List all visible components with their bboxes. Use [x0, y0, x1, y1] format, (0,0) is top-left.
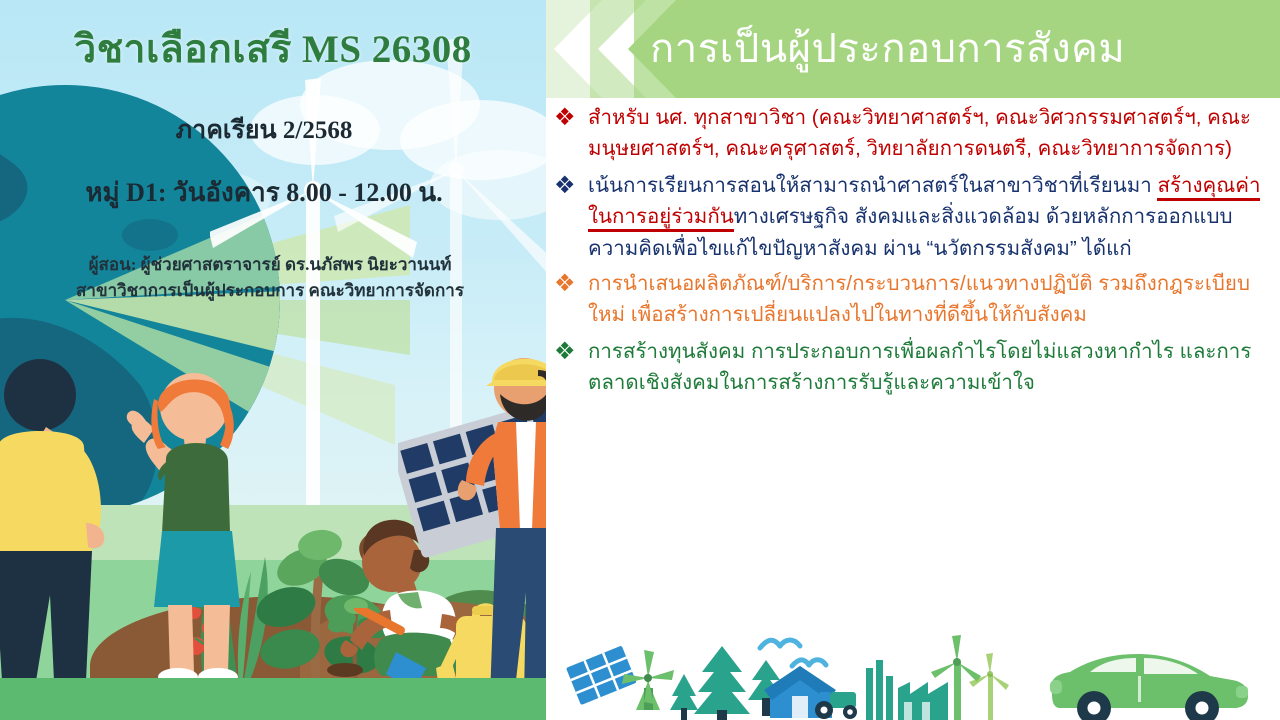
wind-turbine-small-icon — [969, 653, 1009, 720]
bullet-marker-icon: ❖ — [554, 102, 588, 132]
header-band: การเป็นผู้ประกอบการสังคม — [546, 0, 1280, 98]
bird-icon — [760, 640, 800, 648]
instructor-department: สาขาวิชาการเป็นผู้ประกอบการ คณะวิทยาการจ… — [0, 278, 540, 304]
bullet-marker-icon: ❖ — [554, 268, 588, 298]
pine-tree-small-icon — [670, 674, 698, 720]
bullet-item: ❖ การนำเสนอผลิตภัณฑ์/บริการ/กระบวนการ/แน… — [546, 268, 1280, 330]
pine-tree-icon — [694, 646, 750, 720]
person-orange-hair — [108, 355, 268, 685]
eco-icon-strip — [546, 634, 1280, 720]
tractor-icon — [815, 692, 857, 719]
bullet-segment: สำหรับ นศ. ทุกสาขาวิชา (คณะวิทยาศาสตร์ฯ,… — [588, 106, 1251, 160]
instructor-info: ผู้สอน: ผู้ช่วยศาสตราจารย์ ดร.นภัสพร นิย… — [0, 252, 540, 305]
factory-icon — [866, 660, 948, 720]
bullet-marker-icon: ❖ — [554, 336, 588, 366]
bullet-item: ❖ การสร้างทุนสังคม การประกอบการเพื่อผลกำ… — [546, 336, 1280, 398]
bullet-segment: การนำเสนอผลิตภัณฑ์/บริการ/กระบวนการ/แนวท… — [588, 272, 1250, 326]
foreground-green-band — [0, 678, 546, 720]
bullet-segment: การสร้างทุนสังคม การประกอบการเพื่อผลกำไร… — [588, 340, 1251, 394]
windmill-icon — [622, 650, 674, 710]
header-title: การเป็นผู้ประกอบการสังคม — [650, 16, 1270, 80]
course-title: วิชาเลือกเสรี MS 26308 — [0, 18, 546, 80]
bullet-item: ❖ สำหรับ นศ. ทุกสาขาวิชา (คณะวิทยาศาสตร์… — [546, 102, 1280, 164]
green-car-icon — [1050, 654, 1248, 720]
term-label: ภาคเรียน 2/2568 — [0, 110, 528, 150]
bullet-text: เน้นการเรียนการสอนให้สามารถนำศาสตร์ในสาข… — [588, 170, 1266, 263]
bullet-item: ❖ เน้นการเรียนการสอนให้สามารถนำศาสตร์ในส… — [546, 170, 1280, 263]
bullet-text: การนำเสนอผลิตภัณฑ์/บริการ/กระบวนการ/แนวท… — [588, 268, 1266, 330]
section-schedule-label: หมู่ D1: วันอังคาร 8.00 - 12.00 น. — [0, 172, 528, 213]
bullet-text: การสร้างทุนสังคม การประกอบการเพื่อผลกำไร… — [588, 336, 1266, 398]
right-content-panel: การเป็นผู้ประกอบการสังคม ❖ สำหรับ นศ. ทุ… — [546, 0, 1280, 720]
worker-solar-panel — [398, 330, 546, 700]
poster-root: วิชาเลือกเสรี MS 26308 ภาคเรียน 2/2568 ห… — [0, 0, 1280, 720]
bullet-segment: เน้นการเรียนการสอนให้สามารถนำศาสตร์ในสาข… — [588, 174, 1157, 197]
left-illustration-panel: วิชาเลือกเสรี MS 26308 ภาคเรียน 2/2568 ห… — [0, 0, 546, 720]
bullet-marker-icon: ❖ — [554, 170, 588, 200]
person-yellow-shirt — [0, 355, 118, 685]
bullet-text: สำหรับ นศ. ทุกสาขาวิชา (คณะวิทยาศาสตร์ฯ,… — [588, 102, 1266, 164]
bird-icon — [792, 660, 826, 666]
bullet-list: ❖ สำหรับ นศ. ทุกสาขาวิชา (คณะวิทยาศาสตร์… — [546, 102, 1280, 400]
instructor-name: ผู้สอน: ผู้ช่วยศาสตราจารย์ ดร.นภัสพร นิย… — [0, 252, 540, 278]
